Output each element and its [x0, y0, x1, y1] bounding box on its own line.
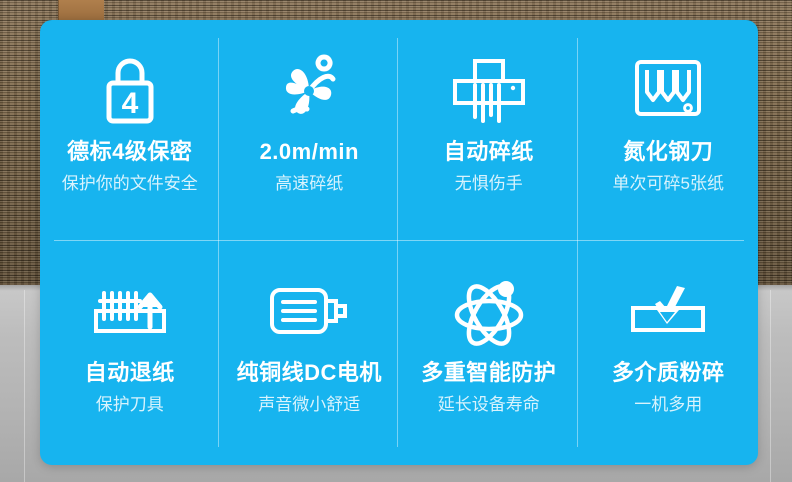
atom-protection-icon	[450, 269, 528, 355]
feature-cell-security: 4 德标4级保密 保护你的文件安全	[40, 20, 220, 243]
paper-shredder-icon	[447, 48, 531, 134]
feature-cell-protection: 多重智能防护 延长设备寿命	[399, 243, 579, 466]
steel-blades-icon	[631, 48, 705, 134]
pinwheel-speed-icon	[271, 48, 347, 134]
feature-title: 氮化钢刀	[623, 140, 713, 164]
multi-media-check-icon	[627, 269, 709, 355]
feature-subtitle: 单次可碎5张纸	[613, 175, 724, 194]
feature-cell-motor: 纯铜线DC电机 声音微小舒适	[220, 243, 400, 466]
feature-title: 多介质粉碎	[612, 361, 725, 385]
feature-cell-blades: 氮化钢刀 单次可碎5张纸	[579, 20, 759, 243]
wood-plank-accent	[58, 0, 104, 22]
feature-title: 德标4级保密	[67, 140, 192, 164]
feature-subtitle: 高速碎纸	[275, 175, 343, 194]
feature-subtitle: 声音微小舒适	[258, 396, 360, 415]
feature-subtitle: 无惧伤手	[455, 175, 523, 194]
floor-seam	[770, 290, 771, 482]
feature-cell-multi-media: 多介质粉碎 一机多用	[579, 243, 759, 466]
feature-cell-auto-eject: 自动退纸 保护刀具	[40, 243, 220, 466]
features-panel: 4 德标4级保密 保护你的文件安全	[40, 20, 758, 465]
feature-title: 自动碎纸	[444, 140, 534, 164]
promo-banner: 4 德标4级保密 保护你的文件安全	[0, 0, 792, 482]
feature-subtitle: 保护刀具	[96, 396, 164, 415]
feature-title: 自动退纸	[85, 361, 175, 385]
dc-motor-icon	[266, 269, 352, 355]
feature-title: 纯铜线DC电机	[237, 361, 382, 385]
floor-seam	[24, 290, 25, 482]
feature-cell-speed: 2.0m/min 高速碎纸	[220, 20, 400, 243]
feature-title: 2.0m/min	[260, 140, 359, 164]
paper-eject-icon	[88, 269, 172, 355]
feature-subtitle: 一机多用	[634, 396, 702, 415]
feature-title: 多重智能防护	[421, 361, 556, 385]
feature-cell-auto-shred: 自动碎纸 无惧伤手	[399, 20, 579, 243]
lock-level4-icon: 4	[94, 48, 166, 134]
feature-subtitle: 保护你的文件安全	[62, 175, 198, 194]
feature-subtitle: 延长设备寿命	[438, 396, 540, 415]
lock-level-number: 4	[121, 87, 138, 120]
